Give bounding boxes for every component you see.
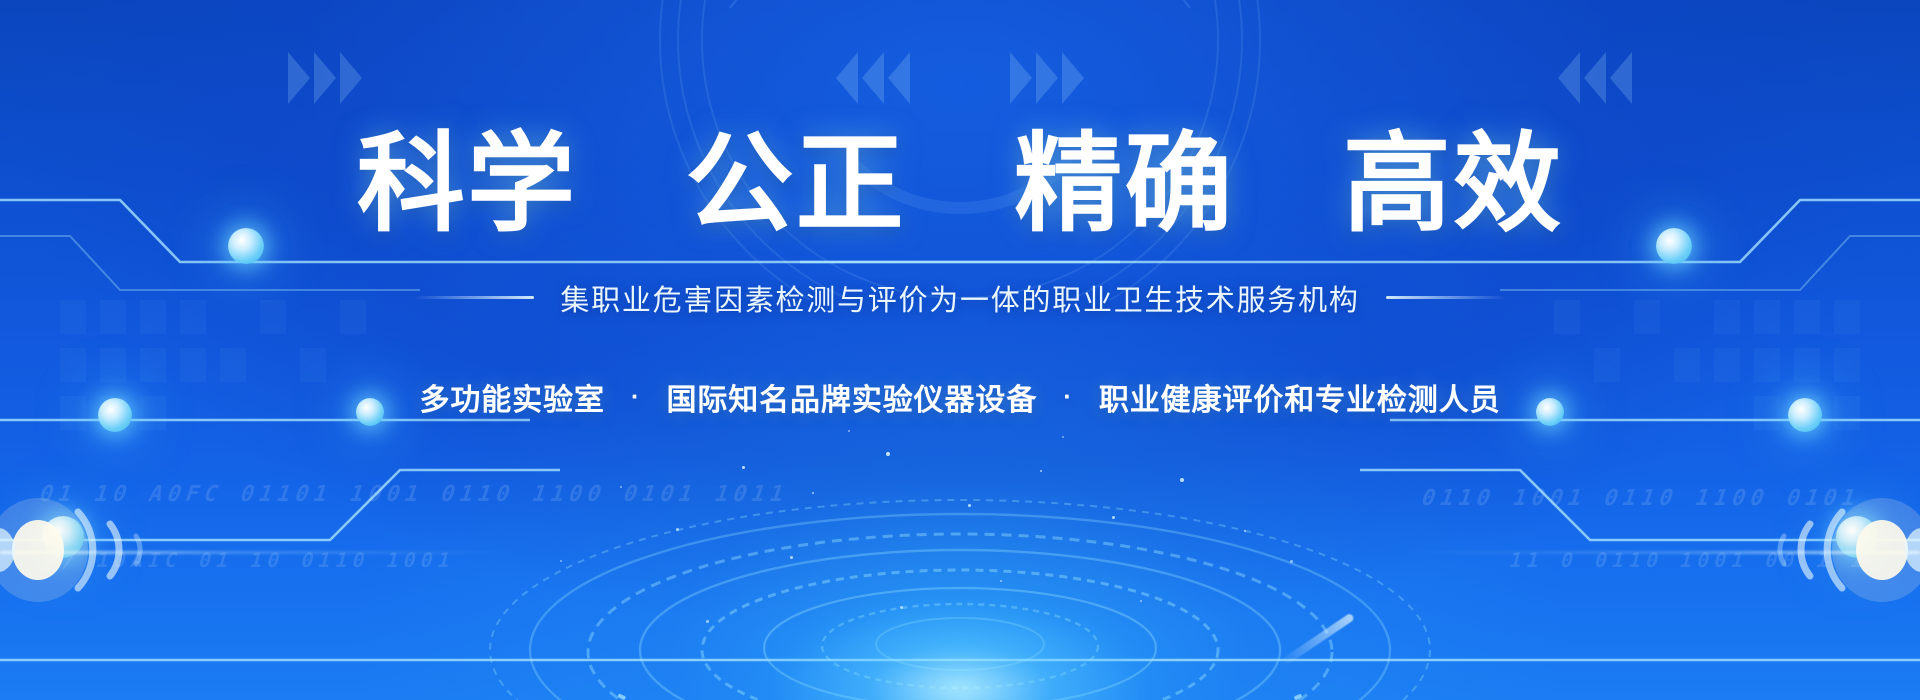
tagline-item-2: 国际知名品牌实验仪器设备 [666,375,1037,419]
tagline-separator-dot: · [1063,381,1073,412]
headline-word-2: 公正 [686,123,906,244]
subtitle-row: 集职业危害因素检测与评价为一体的职业卫生技术服务机构 [414,277,1505,319]
tagline-item-3: 职业健康评价和专业检测人员 [1099,375,1501,419]
tagline-item-1: 多功能实验室 [419,375,604,419]
subtitle: 集职业危害因素检测与评价为一体的职业卫生技术服务机构 [560,277,1359,319]
banner-content: 科学 公正 精确 高效 集职业危害因素检测与评价为一体的职业卫生技术服务机构 多… [0,0,1920,700]
tagline: 多功能实验室 · 国际知名品牌实验仪器设备 · 职业健康评价和专业检测人员 [419,375,1500,419]
subtitle-rule-left [414,296,534,299]
hero-banner: 01 10 A0FC 01101 1001 0110 1100 0101 101… [0,0,1920,700]
headline-word-4: 高效 [1343,123,1563,244]
subtitle-rule-right [1386,296,1506,299]
headline: 科学 公正 精确 高效 [357,126,1563,243]
headline-word-3: 精确 [1014,123,1234,244]
headline-word-1: 科学 [357,123,577,244]
tagline-separator-dot: · [631,381,641,412]
